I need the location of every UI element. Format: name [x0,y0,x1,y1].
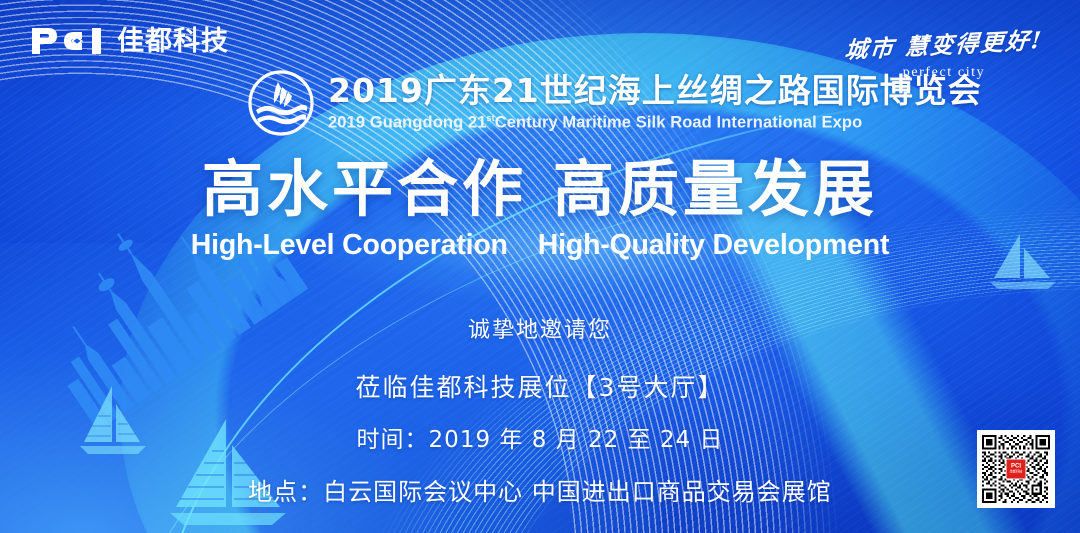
qr-code[interactable]: PCI 佳都科技 [977,430,1055,508]
expo-title-cn: 2019广东21世纪海上丝绸之路国际博览会 [328,74,982,109]
expo-title-en-post: Century Maritime Silk Road International… [495,113,863,131]
maritime-silk-road-emblem [248,70,314,136]
pci-brand-logo: 佳都科技 [30,26,229,56]
headline-cn-right: 高质量发展 [553,154,878,225]
expo-title-block: 2019广东21世纪海上丝绸之路国际博览会 2019 Guangdong 21s… [248,70,982,136]
pci-logo-mark [30,26,108,56]
event-details-block: 时间：2019 年 8 月 22 至 24 日 地点：白云国际会议中心 中国进出… [0,420,1080,507]
qr-center-logo: PCI 佳都科技 [1006,459,1027,480]
event-time: 时间：2019 年 8 月 22 至 24 日 [0,420,1080,454]
headline-en: High-Level CooperationHigh-Quality Devel… [0,229,1080,262]
expo-title-en-sup: st [487,113,495,123]
qr-center-logo-line2: 佳都科技 [1010,471,1023,474]
slogan-cn: 城市 慧变得更好! [832,20,1056,65]
headline-cn: 高水平合作高质量发展 [0,158,1080,223]
expo-title-en-pre: 2019 Guangdong 21 [328,113,487,131]
event-place: 地点：白云国际会议中心 中国进出口商品交易会展馆 [0,472,1080,507]
invitation-block: 诚挚地邀请您 莅临佳都科技展位【3号大厅】 [0,312,1080,404]
headline-cn-left: 高水平合作 [202,154,527,225]
main-headline: 高水平合作高质量发展 High-Level CooperationHigh-Qu… [0,158,1080,262]
headline-en-right: High-Quality Development [538,229,890,261]
invitation-line-1: 诚挚地邀请您 [0,312,1080,344]
expo-invitation-banner: 佳都科技 城市 慧变得更好! perfect city 2019广东21世纪海上… [0,0,1080,533]
expo-title-en: 2019 Guangdong 21stCentury Maritime Silk… [328,113,982,133]
qr-code-canvas: PCI 佳都科技 [982,435,1050,503]
expo-title-texts: 2019广东21世纪海上丝绸之路国际博览会 2019 Guangdong 21s… [328,74,982,132]
headline-en-left: High-Level Cooperation [191,229,508,261]
invitation-line-2: 莅临佳都科技展位【3号大厅】 [0,368,1080,404]
pci-logo-text-cn: 佳都科技 [117,28,229,55]
